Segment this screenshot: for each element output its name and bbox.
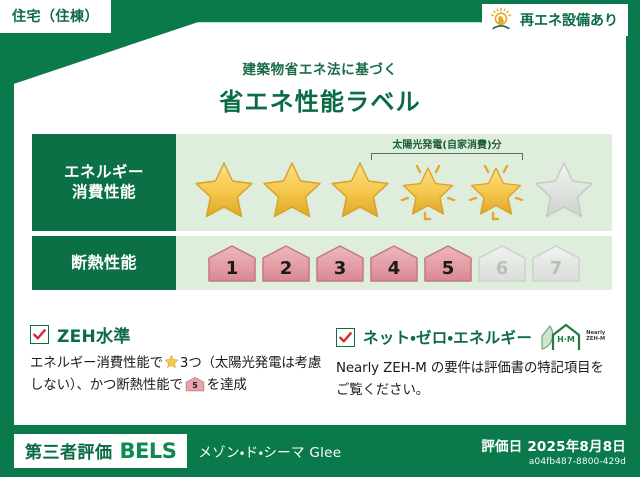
star-rating-strip: [191, 158, 597, 222]
energy-performance-key: エネルギー 消費性能: [32, 134, 176, 231]
insulation-level-6: 6: [476, 243, 528, 283]
zeh-m-logo-line2: ZEH-M: [586, 337, 605, 343]
zeh-criterion-title: ZEH水準: [57, 322, 131, 347]
star-filled-icon: [191, 158, 257, 222]
bels-jp-label: 第三者評価: [25, 438, 113, 463]
sun-renewable-icon: [488, 7, 514, 33]
insulation-level-2: 2: [260, 243, 312, 283]
zeh-criterion: ZEH水準 エネルギー消費性能で3つ（太陽光発電は考慮しない）、かつ断熱性能で5…: [30, 322, 322, 401]
evaluation-id: a04fb487-8800-429d: [481, 457, 626, 467]
insulation-level-3: 3: [314, 243, 366, 283]
svg-text:7: 7: [550, 258, 563, 279]
renewable-equipment-badge: 再エネ設備あり: [482, 4, 628, 36]
zeh-m-logo: H·M Nearly ZEH-M: [540, 322, 605, 352]
zeh-checkbox[interactable]: [30, 325, 49, 344]
insulation-level-strip: 1 2 3 4 5: [206, 243, 582, 283]
label-title: 省エネ性能ラベル: [0, 82, 640, 117]
bottom-bar: 第三者評価 BELS メゾン・ド・シーマ Glee 評価日 2025年8月8日 …: [0, 425, 640, 477]
netzero-criterion-title: ネット・ゼロ・エネルギー: [363, 326, 532, 348]
zeh-text-part3: を達成: [207, 378, 247, 393]
label-title-block: 建築物省エネ法に基づく 省エネ性能ラベル: [0, 58, 640, 117]
svg-text:4: 4: [388, 258, 401, 279]
energy-performance-value: 太陽光発電(自家消費)分: [176, 134, 612, 231]
renewable-equipment-label: 再エネ設備あり: [520, 10, 618, 30]
zeh-text-part1: エネルギー消費性能で: [30, 356, 163, 371]
svg-text:1: 1: [226, 258, 239, 279]
bels-en-label: BELS: [120, 439, 177, 463]
energy-key-line2: 消費性能: [72, 183, 136, 203]
zeh-criterion-text: エネルギー消費性能で3つ（太陽光発電は考慮しない）、かつ断熱性能で5を達成: [30, 353, 322, 396]
zeh-m-logo-caption: Nearly ZEH-M: [586, 331, 605, 343]
insulation-level-4: 4: [368, 243, 420, 283]
svg-text:5: 5: [192, 381, 197, 390]
insulation-level-1: 1: [206, 243, 258, 283]
energy-performance-row: エネルギー 消費性能 太陽光発電(自家消費)分: [32, 134, 612, 231]
evaluation-date: 評価日 2025年8月8日: [481, 435, 626, 455]
insulation-performance-value: 1 2 3 4 5: [176, 236, 612, 290]
insulation-level-5: 5: [422, 243, 474, 283]
zeh-m-house-icon: H·M: [540, 322, 584, 352]
zeh-criterion-header: ZEH水準: [30, 322, 322, 347]
bels-badge: 第三者評価 BELS: [14, 434, 187, 468]
netzero-criterion-text: Nearly ZEH-M の要件は評価書の特記項目をご覧ください。: [336, 358, 616, 401]
solar-contribution-label: 太陽光発電(自家消費)分: [371, 136, 523, 151]
solar-contribution-annotation: 太陽光発電(自家消費)分: [371, 136, 523, 160]
svg-text:6: 6: [496, 258, 509, 279]
star-filled-icon: [327, 158, 393, 222]
star-empty-icon: [531, 158, 597, 222]
svg-text:H·M: H·M: [557, 335, 575, 344]
check-icon: [338, 330, 353, 345]
label-subtitle: 建築物省エネ法に基づく: [0, 58, 640, 78]
insulation-key-label: 断熱性能: [71, 253, 137, 273]
check-icon: [32, 327, 47, 342]
building-type-tab: 住宅（住棟）: [0, 0, 111, 33]
performance-block: エネルギー 消費性能 太陽光発電(自家消費)分: [32, 134, 612, 290]
evaluation-meta: 評価日 2025年8月8日 a04fb487-8800-429d: [481, 435, 626, 467]
svg-text:5: 5: [442, 258, 455, 279]
insulation-performance-row: 断熱性能 1 2: [32, 236, 612, 290]
energy-label-root: 住宅（住棟） 再エネ設備あり 建築物省エネ法に基づく 省エネ性能ラベル: [0, 0, 640, 477]
netzero-criterion-header: ネット・ゼロ・エネルギー H·M Nearly ZEH-M: [336, 322, 616, 352]
netzero-checkbox[interactable]: [336, 328, 355, 347]
building-type-label: 住宅（住棟）: [12, 9, 99, 25]
svg-text:2: 2: [280, 258, 293, 279]
solar-contribution-bracket: [371, 153, 523, 160]
insulation-level-7: 7: [530, 243, 582, 283]
building-name: メゾン・ド・シーマ Glee: [198, 441, 341, 461]
star-filled-icon: [259, 158, 325, 222]
netzero-criterion: ネット・ゼロ・エネルギー H·M Nearly ZEH-M Nearly ZEH…: [336, 322, 616, 401]
zeh-text-stars: 3つ（太陽光発電: [180, 356, 281, 371]
criteria-block: ZEH水準 エネルギー消費性能で3つ（太陽光発電は考慮しない）、かつ断熱性能で5…: [30, 322, 616, 401]
insulation-performance-key: 断熱性能: [32, 236, 176, 290]
svg-text:3: 3: [334, 258, 347, 279]
inline-house-level-icon: 5: [185, 376, 205, 392]
inline-star-icon: [164, 354, 179, 369]
star-solar-icon: [463, 158, 529, 222]
energy-key-line1: エネルギー: [64, 163, 144, 183]
star-solar-icon: [395, 158, 461, 222]
